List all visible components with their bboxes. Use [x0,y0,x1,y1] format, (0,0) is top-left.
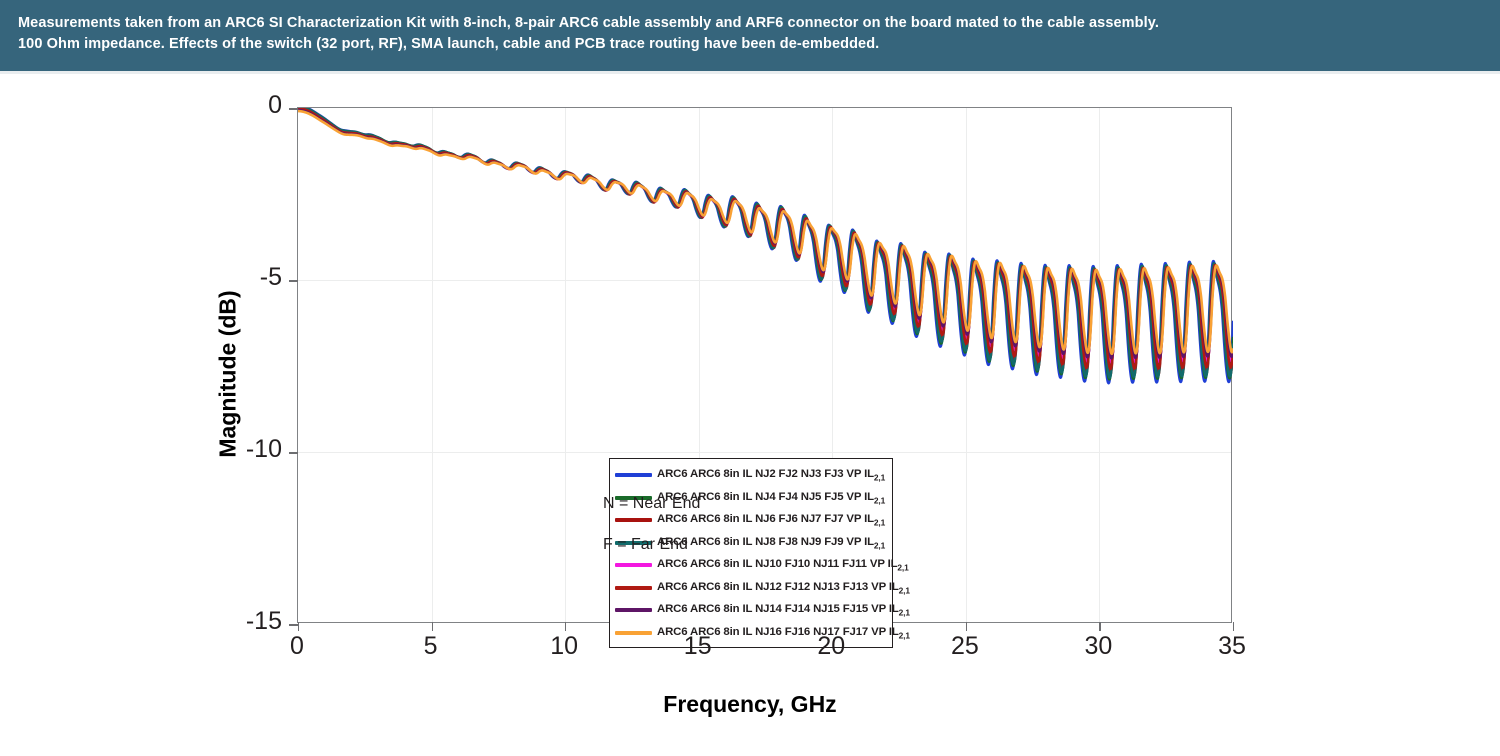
x-tick-label: 25 [930,632,1000,661]
legend-label: ARC6 ARC6 8in IL NJ10 FJ10 NJ11 FJ11 VP … [657,558,909,572]
legend-color-swatch [615,631,652,635]
legend-label-subscript: 2,1 [874,472,885,482]
header-banner: Measurements taken from an ARC6 SI Chara… [0,0,1500,71]
legend-item[interactable]: ARC6 ARC6 8in IL NJ14 FJ14 NJ15 FJ15 VP … [610,599,892,622]
legend-label: ARC6 ARC6 8in IL NJ14 FJ14 NJ15 FJ15 VP … [657,603,910,617]
x-tick-label: 20 [796,632,866,661]
legend-color-swatch [615,473,652,477]
legend-item[interactable]: ARC6 ARC6 8in IL NJ12 FJ12 NJ13 FJ13 VP … [610,577,892,600]
x-tick-label: 30 [1063,632,1133,661]
x-tick-label: 10 [529,632,599,661]
y-tick-mark [289,624,298,626]
legend-label-subscript: 2,1 [874,517,885,527]
banner-line-1: Measurements taken from an ARC6 SI Chara… [18,13,1482,34]
legend-label-subscript: 2,1 [874,540,885,550]
legend-color-swatch [615,586,652,590]
series-line-5 [298,109,1233,362]
series-line-6 [298,108,1233,369]
legend-label-subscript: 2,1 [899,585,910,595]
legend-label: ARC6 ARC6 8in IL NJ12 FJ12 NJ13 FJ13 VP … [657,581,910,595]
y-tick-label: -5 [212,263,282,292]
legend-label: ARC6 ARC6 8in IL NJ8 FJ8 NJ9 FJ9 VP IL2,… [657,536,885,550]
legend-label-subscript: 2,1 [897,562,908,572]
series-line-3 [298,108,1233,375]
x-tick-label: 35 [1197,632,1267,661]
legend-label-subscript: 2,1 [874,495,885,505]
legend-label: ARC6 ARC6 8in IL NJ2 FJ2 NJ3 FJ3 VP IL2,… [657,468,885,482]
x-tick-label: 15 [663,632,733,661]
x-tick-mark [1233,622,1234,631]
x-tick-label: 5 [396,632,466,661]
chart-canvas: ARC6 ARC6 8in IL NJ2 FJ2 NJ3 FJ3 VP IL2,… [0,74,1500,756]
legend-label-subscript: 2,1 [899,607,910,617]
legend-item[interactable]: ARC6 ARC6 8in IL NJ2 FJ2 NJ3 FJ3 VP IL2,… [610,464,892,487]
y-tick-mark [289,280,298,282]
legend-color-swatch [615,518,652,522]
legend-item[interactable]: ARC6 ARC6 8in IL NJ10 FJ10 NJ11 FJ11 VP … [610,554,892,577]
legend-label: ARC6 ARC6 8in IL NJ6 FJ6 NJ7 FJ7 VP IL2,… [657,513,885,527]
annotation-far-end: F = Far End [603,536,688,554]
series-line-7 [298,110,1233,358]
plot-area: ARC6 ARC6 8in IL NJ2 FJ2 NJ3 FJ3 VP IL2,… [297,107,1232,623]
y-tick-label: -15 [212,607,282,636]
series-line-8 [298,111,1233,354]
x-tick-label: 0 [262,632,332,661]
series-line-4 [298,108,1233,378]
legend-label-subscript: 2,1 [899,630,910,640]
legend-color-swatch [615,563,652,567]
y-tick-mark [289,452,298,454]
legend-color-swatch [615,608,652,612]
series-line-2 [298,108,1233,379]
series-line-1 [298,108,1233,383]
y-tick-mark [289,108,298,110]
banner-line-2: 100 Ohm impedance. Effects of the switch… [18,34,1482,55]
annotation-near-end: N = Near End [603,495,700,513]
x-axis-title: Frequency, GHz [0,691,1500,718]
y-axis-title: Magnitude (dB) [215,290,242,457]
y-tick-label: 0 [212,91,282,120]
